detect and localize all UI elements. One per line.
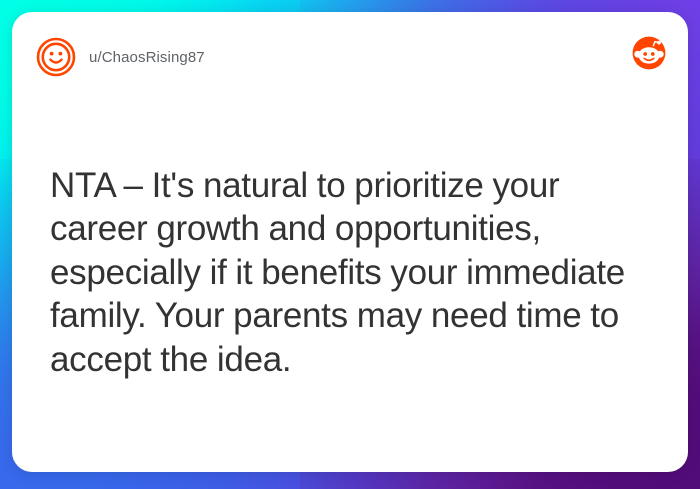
card-header: u/ChaosRising87	[36, 34, 666, 80]
username-label: u/ChaosRising87	[89, 49, 205, 66]
smiley-face-avatar-icon	[36, 37, 76, 77]
reddit-snoo-logo-icon[interactable]	[632, 36, 666, 70]
comment-card: u/ChaosRising87 NTA – It's natural to pr…	[12, 12, 688, 472]
comment-text: NTA – It's natural to prioritize your ca…	[50, 164, 654, 381]
